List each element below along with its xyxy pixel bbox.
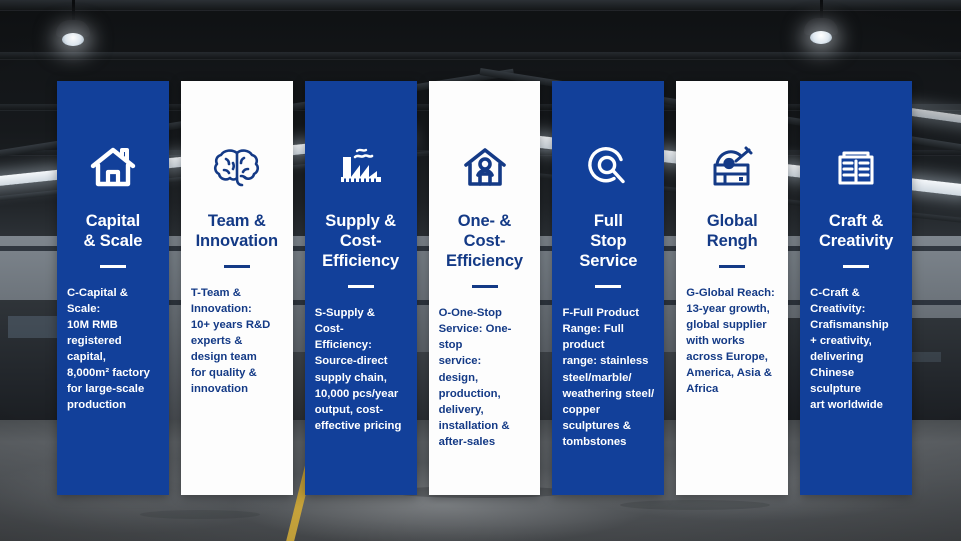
slide-canvas: Capital & Scale C-Capital & Scale: 10M R…: [0, 0, 961, 541]
panel-body: G-Global Reach: 13-year growth, global s…: [685, 285, 779, 397]
panel-title: Craft & Creativity: [819, 211, 893, 251]
pendant-lamp-bulb-right: [810, 31, 832, 44]
panel-body: C-Craft & Creativity: Crafismanship + cr…: [809, 285, 903, 413]
search-circle-icon: [584, 139, 632, 195]
title-divider: [595, 285, 621, 288]
pendant-lamp-stem-right: [820, 0, 823, 20]
panel-body: O-One-Stop Service: One-stop service: de…: [438, 305, 532, 449]
title-divider: [843, 265, 869, 268]
panel-title: Team & Innovation: [196, 211, 278, 251]
home-person-icon: [461, 139, 509, 195]
panel-body: T-Team & Innovation: 10+ years R&D exper…: [190, 285, 284, 397]
feature-panel-row: Capital & Scale C-Capital & Scale: 10M R…: [57, 81, 912, 495]
panel-title: Global Rengh: [707, 211, 758, 251]
brain-icon: [212, 139, 262, 195]
panel-body: C-Capital & Scale: 10M RMB registered ca…: [66, 285, 160, 413]
panel-team-innovation[interactable]: Team & Innovation T-Team & Innovation: 1…: [181, 81, 293, 495]
panel-title: Supply & Cost-Efficiency: [314, 211, 408, 271]
pendant-lamp-bulb-left: [62, 33, 84, 46]
panel-global-reach[interactable]: Global Rengh G-Global Reach: 13-year gro…: [676, 81, 788, 495]
panel-title: One- & Cost-Efficiency: [438, 211, 532, 271]
pendant-lamp-stem-left: [72, 0, 75, 22]
title-divider: [100, 265, 126, 268]
panel-supply-cost-efficiency[interactable]: Supply & Cost-Efficiency S-Supply & Cost…: [305, 81, 417, 495]
title-divider: [719, 265, 745, 268]
panel-title: Capital & Scale: [83, 211, 142, 251]
panel-one-stop-service[interactable]: One- & Cost-Efficiency O-One-Stop Servic…: [429, 81, 541, 495]
sculpting-icon: [707, 139, 757, 195]
title-divider: [472, 285, 498, 288]
title-divider: [348, 285, 374, 288]
craft-panel-icon: [833, 139, 879, 195]
house-icon: [89, 139, 137, 195]
panel-full-stop-service[interactable]: Full Stop Service F-Full Product Range: …: [552, 81, 664, 495]
panel-body: S-Supply & Cost- Efficiency: Source-dire…: [314, 305, 408, 433]
panel-craft-creativity[interactable]: Craft & Creativity C-Craft & Creativity:…: [800, 81, 912, 495]
title-divider: [224, 265, 250, 268]
factory-icon: [335, 139, 387, 195]
panel-capital-scale[interactable]: Capital & Scale C-Capital & Scale: 10M R…: [57, 81, 169, 495]
panel-title: Full Stop Service: [561, 211, 655, 271]
panel-body: F-Full Product Range: Full product range…: [561, 305, 655, 449]
